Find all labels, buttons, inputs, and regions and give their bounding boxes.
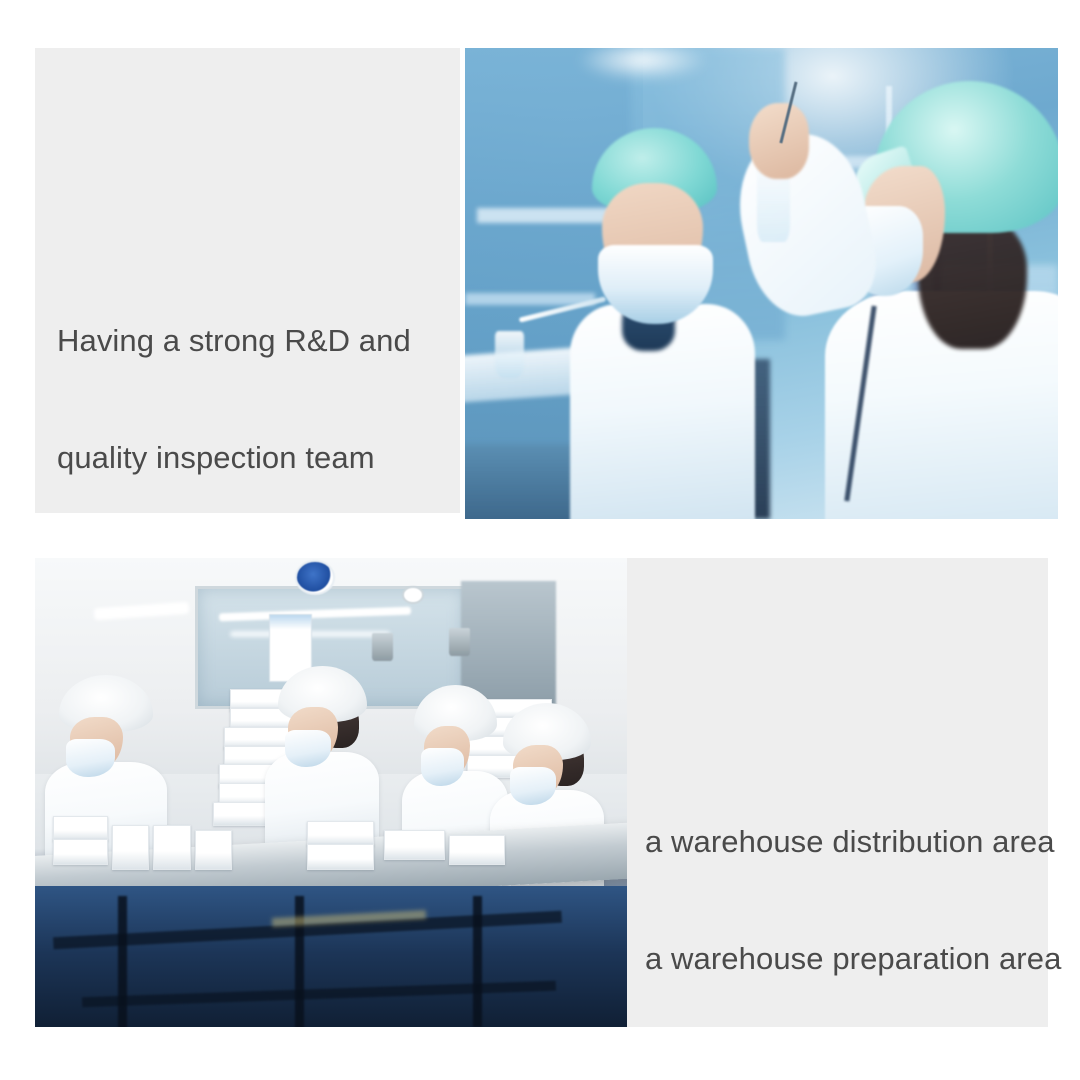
rd-quality-caption-line-2: quality inspection team (57, 438, 447, 477)
warehouse-caption-line-2: a warehouse preparation area (645, 939, 1045, 978)
company-logo-badge (295, 560, 335, 594)
rd-quality-caption-line-1: Having a strong R&D and (57, 321, 447, 360)
carton-box (307, 821, 374, 846)
carton-box (53, 816, 108, 841)
cleanroom-light-tube (219, 607, 411, 622)
table-leg (473, 896, 482, 1027)
face-mask (510, 767, 556, 805)
carton-box (112, 825, 150, 869)
wall-clock (402, 586, 424, 604)
warehouse-caption-panel: a warehouse distribution area a warehous… (627, 558, 1048, 1027)
carton-box (449, 835, 504, 865)
face-mask (421, 748, 464, 786)
stainless-container (372, 633, 392, 661)
warehouse-packing-line-photo (35, 558, 627, 1027)
carton-box (195, 830, 233, 870)
laboratory-quality-inspection-photo (465, 48, 1058, 519)
carton-box (307, 844, 374, 869)
lab-ceiling-light (578, 48, 708, 81)
carton-box (53, 839, 108, 864)
rd-quality-caption: Having a strong R&D and quality inspecti… (57, 243, 447, 555)
carton-box (384, 830, 445, 860)
warehouse-caption: a warehouse distribution area a warehous… (645, 744, 1045, 1056)
table-leg (118, 896, 127, 1027)
lab-flask (495, 331, 525, 378)
lab-technician-profile (809, 81, 1058, 519)
stainless-container (449, 628, 469, 656)
carton-box (153, 825, 191, 869)
page-canvas: Having a strong R&D and quality inspecti… (0, 0, 1080, 1080)
rd-quality-caption-panel: Having a strong R&D and quality inspecti… (35, 48, 460, 513)
warehouse-caption-line-1: a warehouse distribution area (645, 822, 1045, 861)
lab-technician-front (566, 128, 768, 519)
